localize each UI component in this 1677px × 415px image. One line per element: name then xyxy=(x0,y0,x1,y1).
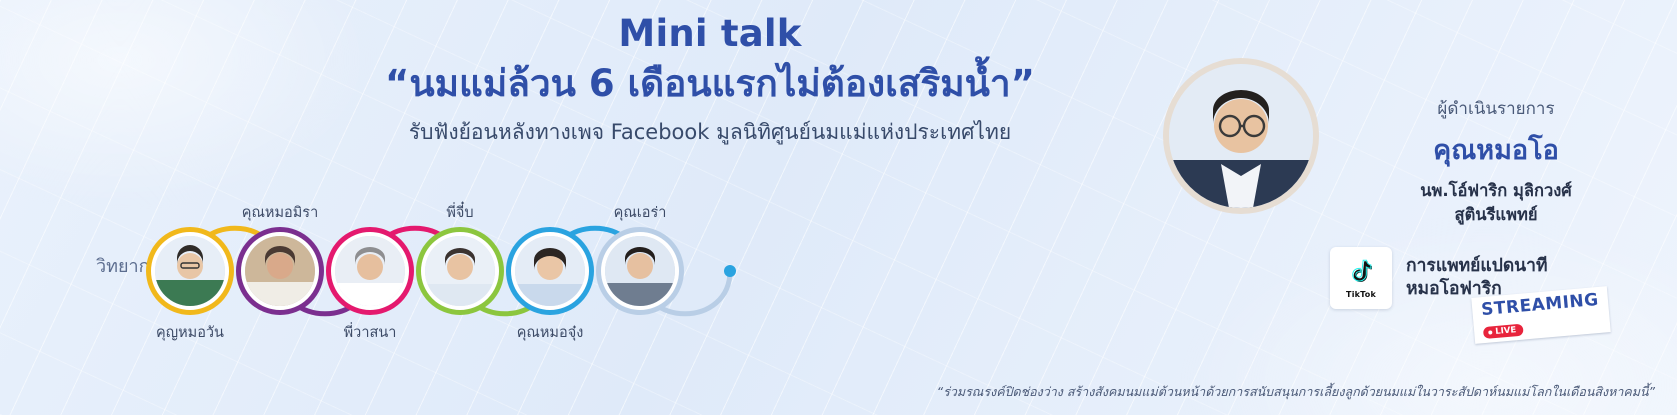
live-badge: LIVE xyxy=(1483,324,1524,339)
mini-talk-label: Mini talk xyxy=(300,14,1120,55)
speaker-name: พี่จี๋บ xyxy=(360,201,560,224)
footnote: “ร่วมรณรงค์ปิดช่องว่าง สร้างสังคมนมแม่ต้… xyxy=(937,382,1655,402)
tiktok-label: TikTok xyxy=(1346,290,1376,299)
host-info: ผู้ดำเนินรายการ คุณหมอโอ นพ.โอ์ฟาริก มุล… xyxy=(1336,95,1656,227)
event-banner: Mini talk “นมแม่ล้วน 6 เดือนแรกไม่ต้องเส… xyxy=(0,0,1677,415)
speaker-name: คุณหมอมิรา xyxy=(180,201,380,224)
speaker-chain: วิทยากร คุญหมอวัน xyxy=(90,196,1090,346)
speaker-name: คุญหมอวัน xyxy=(90,321,290,344)
live-dot-icon xyxy=(1488,330,1492,334)
host-fullname-line2: สูตินรีแพทย์ xyxy=(1336,203,1656,227)
tiktok-note-icon xyxy=(1346,258,1376,288)
subtitle: รับฟังย้อนหลังทางเพจ Facebook มูลนิทิศูน… xyxy=(300,119,1120,146)
host-role-label: ผู้ดำเนินรายการ xyxy=(1336,95,1656,122)
avatar xyxy=(425,236,495,306)
avatar xyxy=(155,236,225,306)
headline-block: Mini talk “นมแม่ล้วน 6 เดือนแรกไม่ต้องเส… xyxy=(300,14,1120,146)
speaker-node[interactable]: คุณเอร่า xyxy=(596,227,684,315)
speaker-node[interactable]: คุณหมอจุ๋ง xyxy=(506,227,594,315)
channel-name-line1: การแพทย์แปดนาที xyxy=(1406,255,1548,278)
avatar xyxy=(335,236,405,306)
speaker-node[interactable]: คุญหมอวัน xyxy=(146,227,234,315)
avatar xyxy=(515,236,585,306)
tiktok-icon[interactable]: TikTok xyxy=(1330,247,1392,309)
speaker-name: พี่วาสนา xyxy=(270,321,470,344)
speaker-node[interactable]: พี่จี๋บ xyxy=(416,227,504,315)
page-title: “นมแม่ล้วน 6 เดือนแรกไม่ต้องเสริมน้ำ” xyxy=(300,61,1120,107)
speaker-name: คุณหมอจุ๋ง xyxy=(450,321,650,344)
host-avatar xyxy=(1163,58,1319,214)
host-nickname: คุณหมอโอ xyxy=(1336,128,1656,171)
avatar xyxy=(605,236,675,306)
speaker-name: คุณเอร่า xyxy=(540,201,740,224)
avatar xyxy=(245,236,315,306)
speaker-node[interactable]: คุณหมอมิรา xyxy=(236,227,324,315)
host-fullname-line1: นพ.โอ์ฟาริก มุลิกวงศ์ xyxy=(1336,179,1656,203)
speaker-node[interactable]: พี่วาสนา xyxy=(326,227,414,315)
live-label: LIVE xyxy=(1495,325,1517,337)
